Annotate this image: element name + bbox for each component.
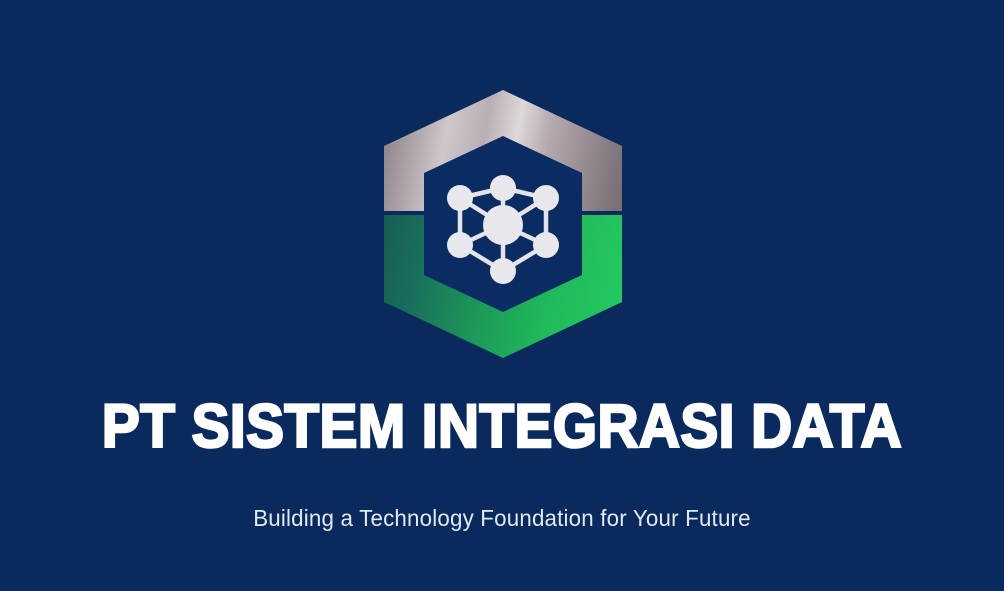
node-bottom [490, 258, 516, 284]
node-bottom-left [447, 232, 473, 258]
node-top-right [533, 185, 559, 211]
node-center [483, 205, 523, 245]
node-top [490, 175, 516, 201]
node-top-left [447, 185, 473, 211]
tagline: Building a Technology Foundation for You… [15, 503, 989, 533]
hexagon-network-logo [372, 84, 634, 364]
node-bottom-right [533, 232, 559, 258]
company-name: PT SISTEM INTEGRASI DATA [35, 391, 969, 461]
brand-card: PT SISTEM INTEGRASI DATA Building a Tech… [0, 0, 1004, 591]
